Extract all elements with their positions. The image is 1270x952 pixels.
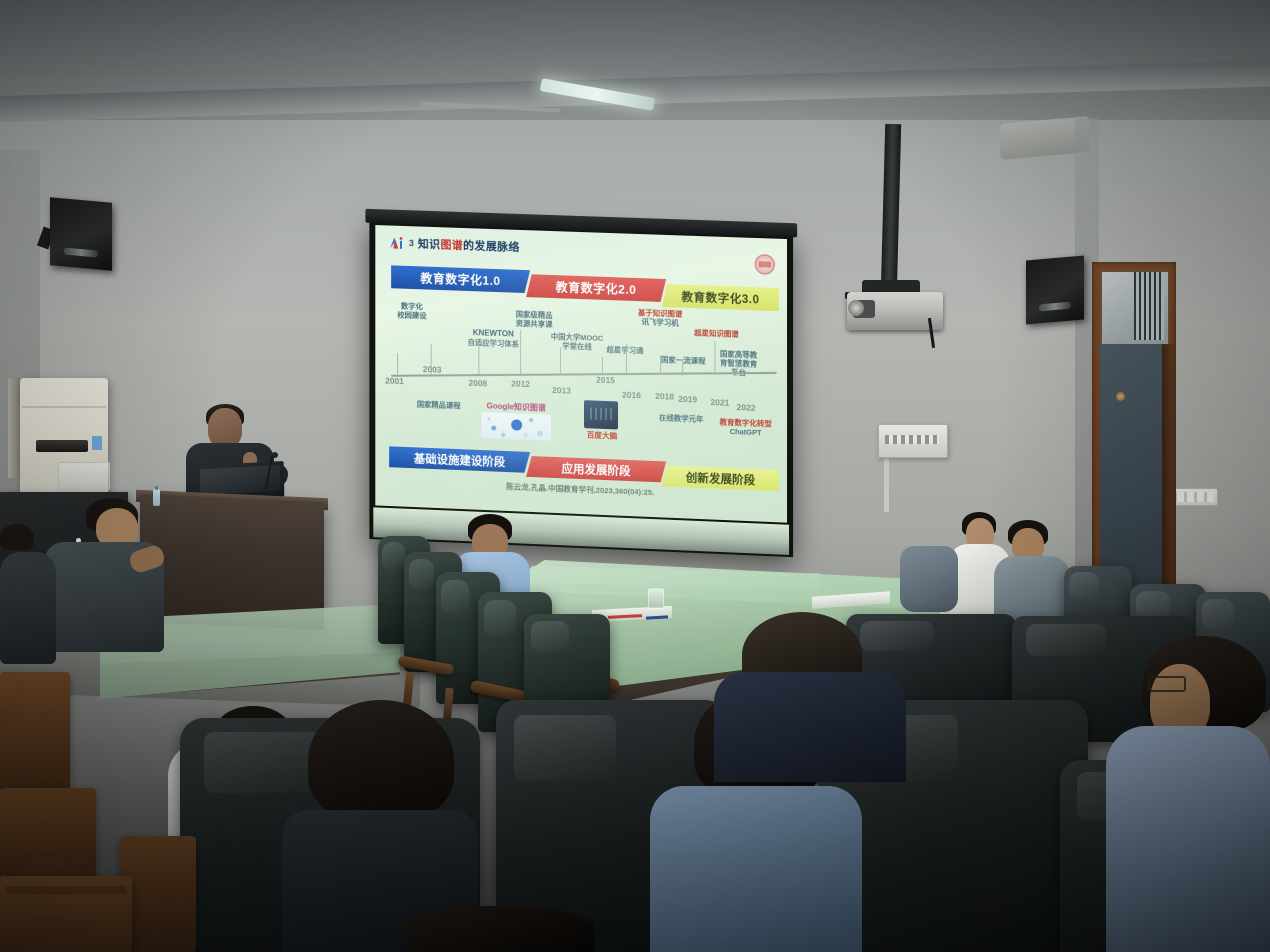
attendee-foreground-blue bbox=[650, 786, 862, 952]
ai-logo-icon bbox=[389, 236, 405, 249]
tick-2015 bbox=[602, 357, 603, 375]
event-label-2003-below: 国家精品课程 bbox=[411, 399, 467, 410]
window-grill bbox=[1134, 272, 1164, 340]
speaker-port bbox=[64, 247, 99, 257]
slide-header: 3 知识图谱的发展脉络 bbox=[389, 234, 520, 254]
projector-lens-icon bbox=[848, 300, 864, 316]
tick-2019 bbox=[682, 360, 683, 376]
phase-bar-bottom-2: 应用发展阶段 bbox=[526, 456, 666, 483]
wall-speaker-right bbox=[1026, 255, 1084, 324]
attendee-far-left-hair bbox=[0, 524, 34, 550]
door-knob-icon[interactable] bbox=[1116, 392, 1125, 401]
wooden-chair-2[interactable] bbox=[0, 788, 96, 888]
wooden-stool[interactable] bbox=[0, 876, 132, 952]
microphone-icon bbox=[272, 452, 278, 458]
event-label-2021: 超星知识图谱 bbox=[690, 328, 742, 339]
speaker-port bbox=[1039, 302, 1071, 312]
event-label-2012: 国家级精品 资源共享课 bbox=[507, 309, 561, 329]
water-bottle bbox=[153, 489, 160, 506]
year-2021: 2021 bbox=[710, 397, 729, 408]
google-knowledge-graph-block: Google知识图谱 bbox=[478, 400, 554, 441]
ac-vent-icon bbox=[36, 440, 88, 452]
event-label-2018: 基于知识图谱 讯飞学习机 bbox=[632, 308, 688, 328]
tick-2008 bbox=[478, 344, 479, 374]
baidu-brain-image bbox=[584, 400, 618, 429]
wooden-chair-1[interactable] bbox=[0, 672, 70, 792]
wire-tray bbox=[58, 462, 110, 490]
panel-conduit bbox=[884, 454, 889, 512]
event-label-2021-below: 教育数字化转型 ChatGPT bbox=[710, 417, 781, 438]
slide-title: 知识图谱的发展脉络 bbox=[418, 235, 520, 254]
tick-2016 bbox=[626, 344, 627, 374]
university-seal-icon bbox=[755, 254, 775, 275]
attendee-foreground-dark-hair bbox=[308, 700, 454, 820]
year-2019: 2019 bbox=[678, 394, 697, 405]
tick-2021 bbox=[714, 341, 715, 375]
tick-2018 bbox=[660, 355, 661, 375]
attendee-right-glasses bbox=[1106, 726, 1270, 952]
event-label-2001: 数字化 校园建设 bbox=[387, 301, 437, 321]
year-2015: 2015 bbox=[596, 375, 615, 386]
year-2003: 2003 bbox=[423, 364, 442, 375]
year-2013: 2013 bbox=[552, 385, 571, 396]
wall-speaker-left bbox=[50, 197, 112, 270]
glasses-icon bbox=[1148, 676, 1186, 692]
knowledge-graph-image bbox=[481, 412, 551, 441]
phase-bar-top-2: 教育数字化2.0 bbox=[526, 274, 666, 302]
electrical-panel bbox=[878, 424, 948, 458]
tick-2013 bbox=[560, 347, 561, 373]
year-2018: 2018 bbox=[655, 391, 674, 402]
ac-seam bbox=[22, 406, 106, 408]
ac-label bbox=[92, 436, 102, 450]
ac-pipe bbox=[8, 378, 20, 478]
attendee-far-left bbox=[0, 552, 56, 664]
phase-bar-bottom-1: 基础设施建设阶段 bbox=[389, 446, 530, 473]
phase-bar-top-3: 教育数字化3.0 bbox=[662, 284, 779, 311]
conference-room-photo: 3 知识图谱的发展脉络 教育数字化1.0 教育数字化2.0 教育数字化3.0 数… bbox=[0, 0, 1270, 952]
year-2022: 2022 bbox=[737, 402, 756, 413]
light-switch-panel[interactable] bbox=[1170, 488, 1218, 506]
projection-screen: 3 知识图谱的发展脉络 教育数字化1.0 教育数字化2.0 教育数字化3.0 数… bbox=[369, 221, 793, 557]
tick-2001 bbox=[397, 353, 398, 375]
year-2001: 2001 bbox=[385, 376, 404, 387]
attendee-grey-back bbox=[900, 546, 958, 612]
phase-bar-top-1: 教育数字化1.0 bbox=[391, 265, 530, 293]
tick-2022 bbox=[737, 354, 738, 376]
screen-surface: 3 知识图谱的发展脉络 教育数字化1.0 教育数字化2.0 教育数字化3.0 数… bbox=[375, 225, 787, 523]
year-2008: 2008 bbox=[468, 378, 487, 389]
glass-tumbler bbox=[648, 588, 664, 609]
year-2012: 2012 bbox=[511, 378, 530, 389]
tick-2012 bbox=[520, 330, 521, 374]
attendee-bottom-edge bbox=[404, 906, 594, 952]
presentation-slide: 3 知识图谱的发展脉络 教育数字化1.0 教育数字化2.0 教育数字化3.0 数… bbox=[375, 225, 787, 523]
presenter-head bbox=[208, 408, 242, 448]
event-label-2008: KNEWTON 自适应学习体系 bbox=[460, 328, 526, 349]
event-label-2019-below: 在线教学元年 bbox=[650, 413, 712, 424]
slide-number: 3 bbox=[409, 238, 414, 248]
year-2016: 2016 bbox=[622, 390, 641, 401]
attendee-mid-navy bbox=[714, 672, 906, 782]
event-label-2013: 中国大学MOOC 学堂在线 bbox=[546, 332, 608, 352]
event-label-2016-below: 百度大脑 bbox=[580, 429, 624, 442]
